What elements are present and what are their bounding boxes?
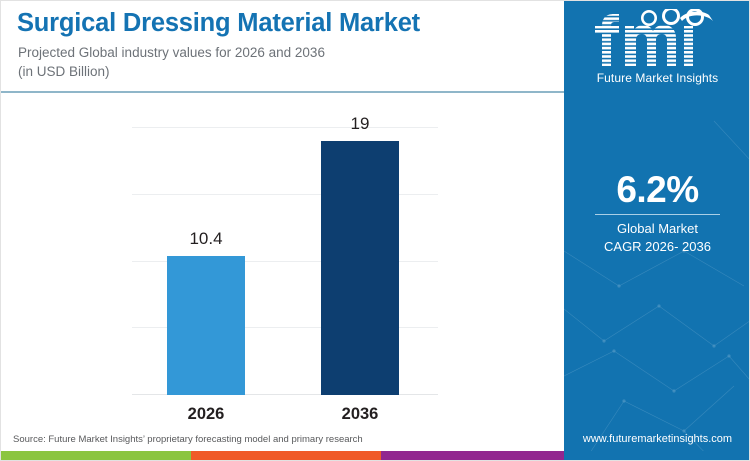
cagr-caption-line-2: CAGR 2026- 2036 — [564, 239, 750, 254]
bar-chart: 10.4 19 2026 2036 — [1, 93, 564, 426]
bar-value-2026: 10.4 — [156, 229, 256, 249]
fmi-logo-mark-icon — [592, 9, 724, 69]
x-axis-label-2036: 2036 — [300, 405, 420, 424]
strip-segment-orange — [191, 451, 381, 460]
bar-2026 — [167, 256, 245, 395]
fmi-logo: Future Market Insights — [564, 9, 750, 93]
footer-color-strip — [1, 451, 750, 460]
bar-2036 — [321, 141, 399, 395]
strip-segment-purple — [381, 451, 564, 460]
page-title: Surgical Dressing Material Market — [17, 9, 420, 38]
header: Surgical Dressing Material Market Projec… — [1, 1, 564, 93]
cagr-caption-line-1: Global Market — [564, 221, 750, 236]
x-axis-label-2026: 2026 — [146, 405, 266, 424]
strip-segment-blue — [564, 451, 750, 460]
subtitle-line-1: Projected Global industry values for 202… — [18, 45, 325, 60]
content-region: Surgical Dressing Material Market Projec… — [1, 1, 564, 461]
bar-value-2036: 19 — [310, 114, 410, 134]
cagr-divider — [595, 214, 720, 215]
strip-segment-green — [1, 451, 191, 460]
fmi-wordmark: Future Market Insights — [564, 71, 750, 85]
brand-panel: Future Market Insights 6.2% Global Marke… — [564, 1, 750, 461]
subtitle-line-2: (in USD Billion) — [18, 64, 110, 79]
website-url: www.futuremarketinsights.com — [564, 433, 750, 445]
source-note: Source: Future Market Insights’ propriet… — [13, 434, 363, 445]
infographic-root: Surgical Dressing Material Market Projec… — [0, 0, 750, 461]
cagr-value: 6.2% — [564, 169, 750, 211]
plot-area: 10.4 19 2026 2036 — [132, 127, 438, 395]
